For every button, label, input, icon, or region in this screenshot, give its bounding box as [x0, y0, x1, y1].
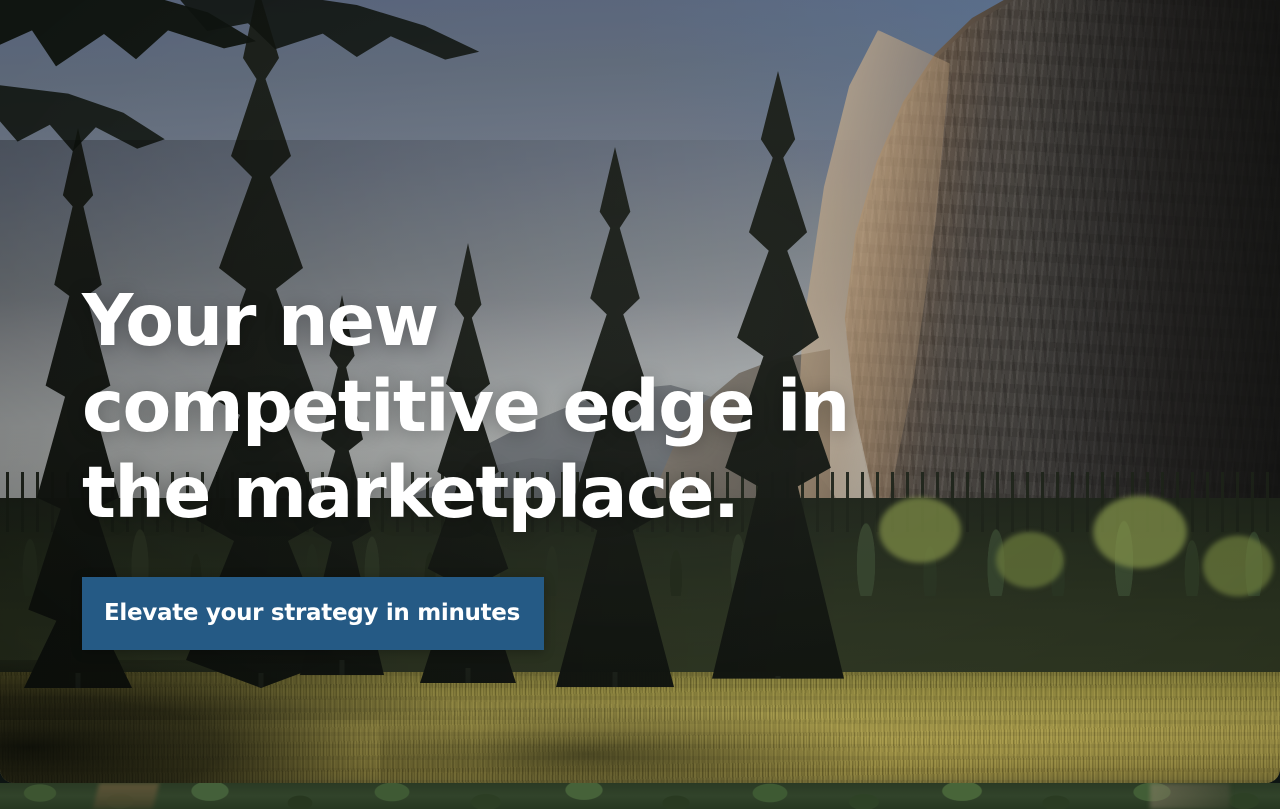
forest-trail: [93, 783, 159, 809]
rock-outcrop: [1150, 783, 1230, 809]
next-section: [0, 783, 1280, 809]
hero-content: Your new competitive edge in the marketp…: [82, 278, 882, 650]
headline-line-2: competitive edge in: [82, 364, 882, 450]
headline-line-1: Your new: [82, 278, 882, 364]
page-title: Your new competitive edge in the marketp…: [82, 278, 882, 536]
forest-canopy-image: [0, 783, 1280, 809]
landing-page: Your new competitive edge in the marketp…: [0, 0, 1280, 809]
hero-section: Your new competitive edge in the marketp…: [0, 0, 1280, 783]
headline-line-3: the marketplace.: [82, 450, 882, 536]
elevate-strategy-cta-button[interactable]: Elevate your strategy in minutes: [82, 577, 544, 650]
